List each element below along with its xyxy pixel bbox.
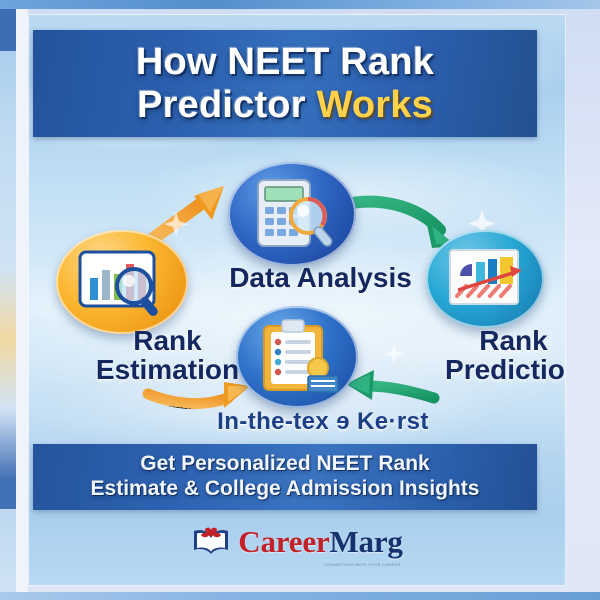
- title-line-2-accent: Works: [316, 84, 432, 126]
- brand-logo[interactable]: CareerMargCONNECTING WITH YOUR CAREER: [28, 512, 566, 572]
- adjacent-poster-sliver: [0, 9, 16, 592]
- title-line-2: Predictor Works: [137, 85, 433, 125]
- arrow-analysis-to-prediction: [346, 202, 456, 248]
- top-edge-strip: [0, 0, 600, 9]
- title-line-1: How NEET Rank: [136, 42, 434, 82]
- tagline-line-1: Get Personalized NEET Rank: [140, 452, 429, 477]
- title-banner: How NEET Rank Predictor Works: [33, 30, 537, 137]
- title-line-2-plain: Predictor: [137, 84, 316, 126]
- garbled-step-label: In-the-tex ɘ Ke·rst: [178, 410, 468, 434]
- brand-wordmark: CareerMargCONNECTING WITH YOUR CAREER: [238, 524, 402, 560]
- poster-body: How NEET Rank Predictor Works: [28, 14, 566, 586]
- arrow-prediction-to-bottom: [346, 370, 434, 400]
- chart-trendline-icon: [444, 246, 528, 314]
- bottom-edge-strip: [0, 592, 600, 600]
- bar-chart-magnifier-icon: [74, 246, 174, 322]
- infographic-root: How NEET Rank Predictor Works: [0, 0, 600, 600]
- arrow-bottom-to-estimation: [148, 382, 250, 408]
- arrow-estimation-to-analysis: [154, 186, 224, 238]
- data-analysis-label: Data Analysis: [198, 264, 443, 293]
- brand-name-career: Career: [238, 524, 329, 559]
- open-book-icon: [191, 526, 231, 558]
- rank-prediction-label: Rank Prediction: [426, 327, 566, 384]
- tagline-line-2: Estimate & College Admission Insights: [91, 477, 480, 502]
- calculator-magnifier-icon: [248, 176, 344, 254]
- clipboard-checklist-icon: [256, 318, 342, 398]
- frame-gap: [16, 9, 28, 592]
- brand-name-marg: Marg: [329, 524, 402, 559]
- brand-subtext: CONNECTING WITH YOUR CAREER: [324, 562, 401, 567]
- tagline-band: Get Personalized NEET Rank Estimate & Co…: [33, 444, 537, 510]
